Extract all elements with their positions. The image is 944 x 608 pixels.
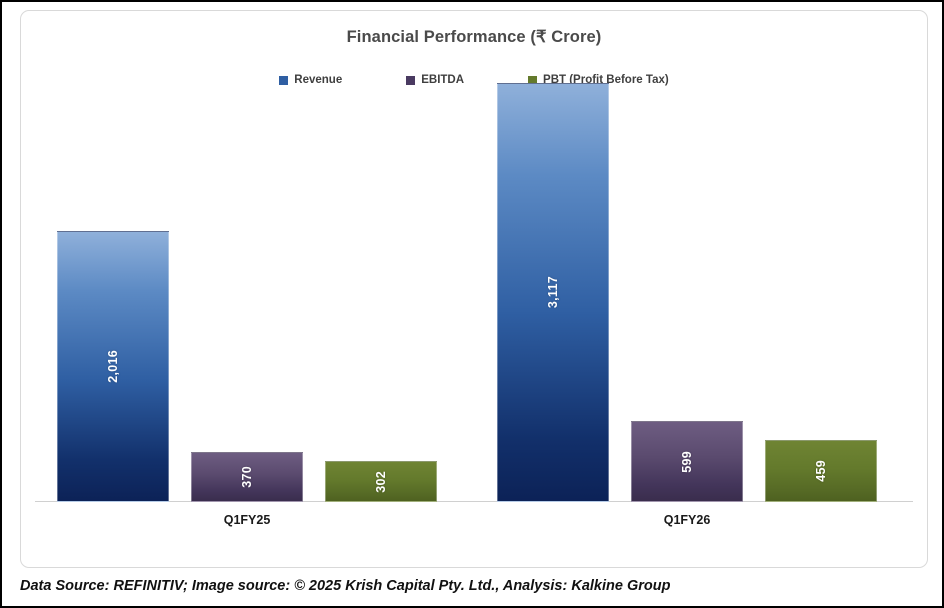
legend-item-revenue[interactable]: Revenue [279, 74, 342, 86]
bar-pbt-q1fy25[interactable]: 302 [325, 461, 437, 502]
bar-pbt-q1fy26[interactable]: 459 [765, 440, 877, 502]
legend-swatch-ebitda [406, 76, 415, 85]
legend-swatch-revenue [279, 76, 288, 85]
bar-value-label: 599 [680, 451, 694, 473]
bar-ebitda-q1fy26[interactable]: 599 [631, 421, 743, 502]
bar-value-label: 302 [374, 471, 388, 493]
chart-card: Financial Performance (₹ Crore) Revenue … [20, 10, 928, 568]
legend-label-revenue: Revenue [294, 74, 342, 86]
bar-revenue-q1fy25[interactable]: 2,016 [57, 231, 169, 502]
bar-value-label: 2,016 [106, 350, 120, 383]
source-footer: Data Source: REFINITIV; Image source: © … [20, 578, 928, 594]
legend-label-ebitda: EBITDA [421, 74, 464, 86]
bar-group-q1fy26: 3,117 599 459 [497, 83, 877, 502]
bar-ebitda-q1fy25[interactable]: 370 [191, 452, 303, 502]
bar-group-q1fy25: 2,016 370 302 [57, 231, 437, 502]
chart-title: Financial Performance (₹ Crore) [21, 27, 927, 47]
bar-value-label: 3,117 [546, 276, 560, 308]
chart-frame: Financial Performance (₹ Crore) Revenue … [0, 0, 944, 608]
category-label-q1fy25: Q1FY25 [57, 513, 437, 527]
bar-value-label: 459 [814, 460, 828, 482]
bar-value-label: 370 [240, 466, 254, 488]
bar-revenue-q1fy26[interactable]: 3,117 [497, 83, 609, 502]
plot-area: 2,016 370 302 3,117 599 459 [35, 107, 913, 535]
legend-item-ebitda[interactable]: EBITDA [406, 74, 464, 86]
category-label-q1fy26: Q1FY26 [497, 513, 877, 527]
